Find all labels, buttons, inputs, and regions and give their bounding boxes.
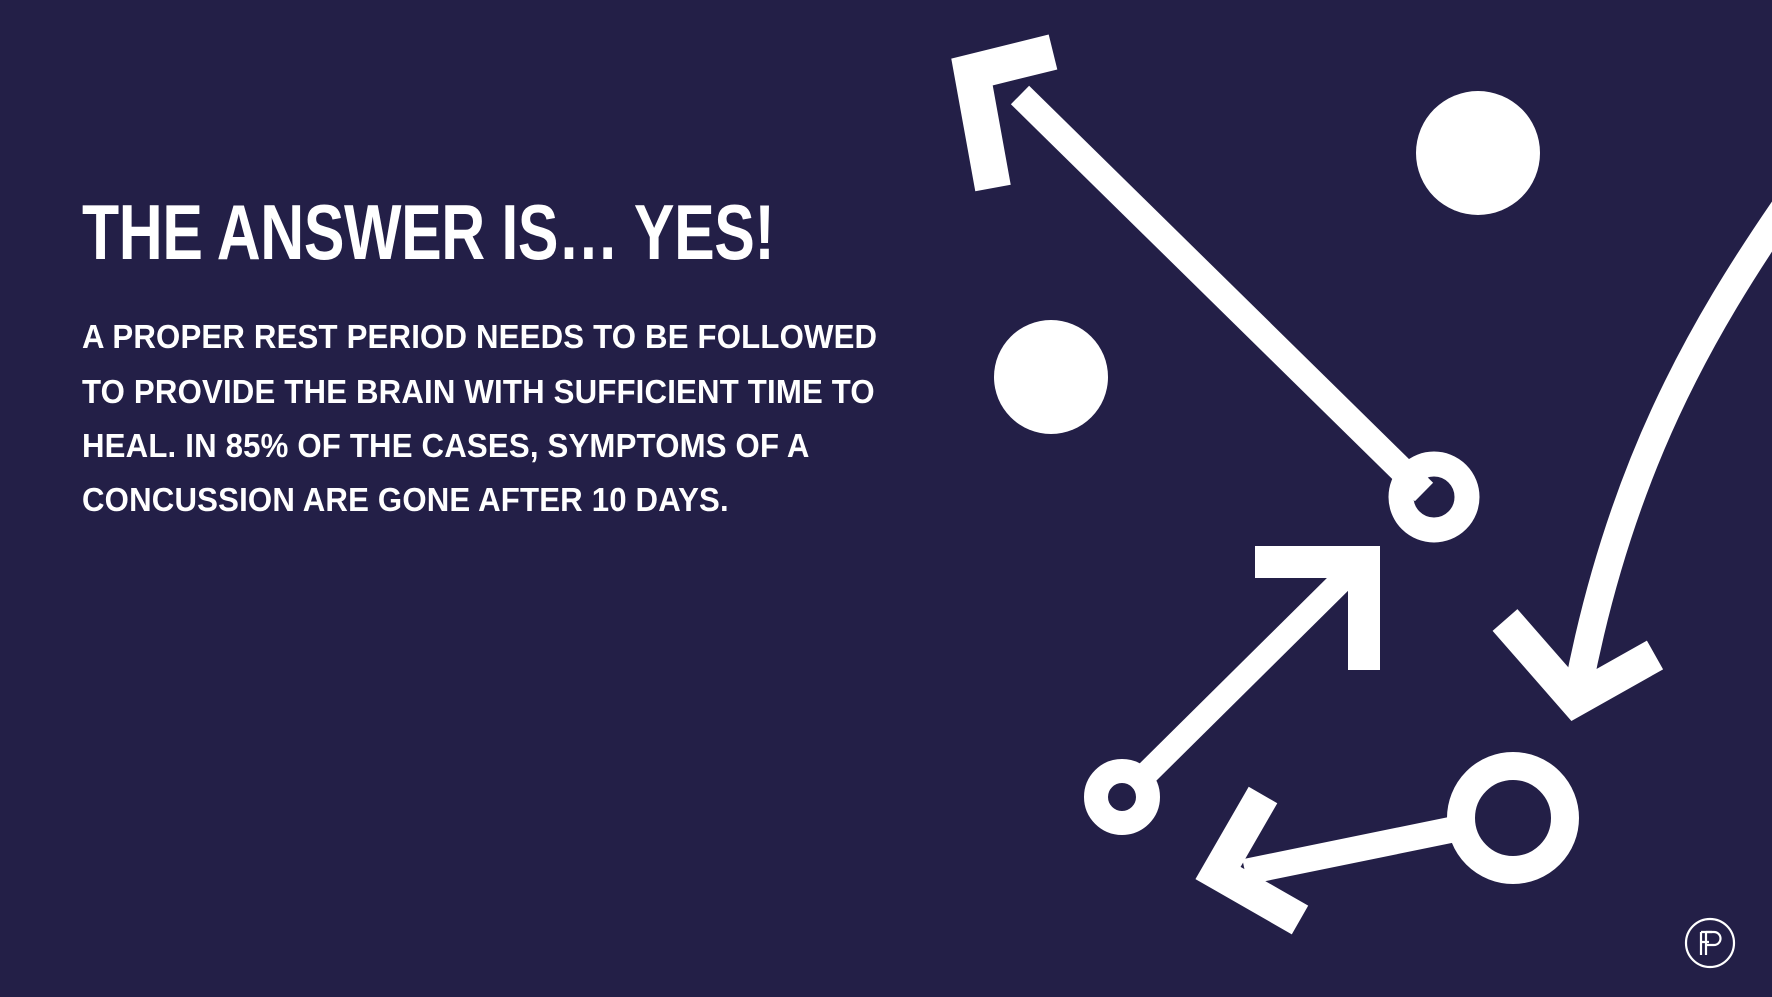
slide-canvas: THE ANSWER IS… YES! A PROPER REST PERIOD… — [0, 0, 1772, 997]
solid-dot-large-icon — [1416, 91, 1540, 215]
arrow-diagonal-up-right-icon — [1096, 562, 1364, 823]
arrow-left-with-ring-icon — [1218, 766, 1565, 920]
page-title: THE ANSWER IS… YES! — [82, 196, 768, 269]
text-block: THE ANSWER IS… YES! A PROPER REST PERIOD… — [82, 196, 962, 528]
logo-monogram-p — [1706, 932, 1720, 955]
brand-logo-icon[interactable] — [1682, 915, 1738, 971]
logo-ring — [1686, 919, 1734, 967]
arrow-diagonal-up-left-icon — [972, 52, 1467, 530]
body-paragraph: A PROPER REST PERIOD NEEDS TO BE FOLLOWE… — [82, 269, 882, 528]
solid-dot-small-icon — [994, 320, 1108, 434]
arrow-curved-down-icon — [1505, 200, 1772, 700]
